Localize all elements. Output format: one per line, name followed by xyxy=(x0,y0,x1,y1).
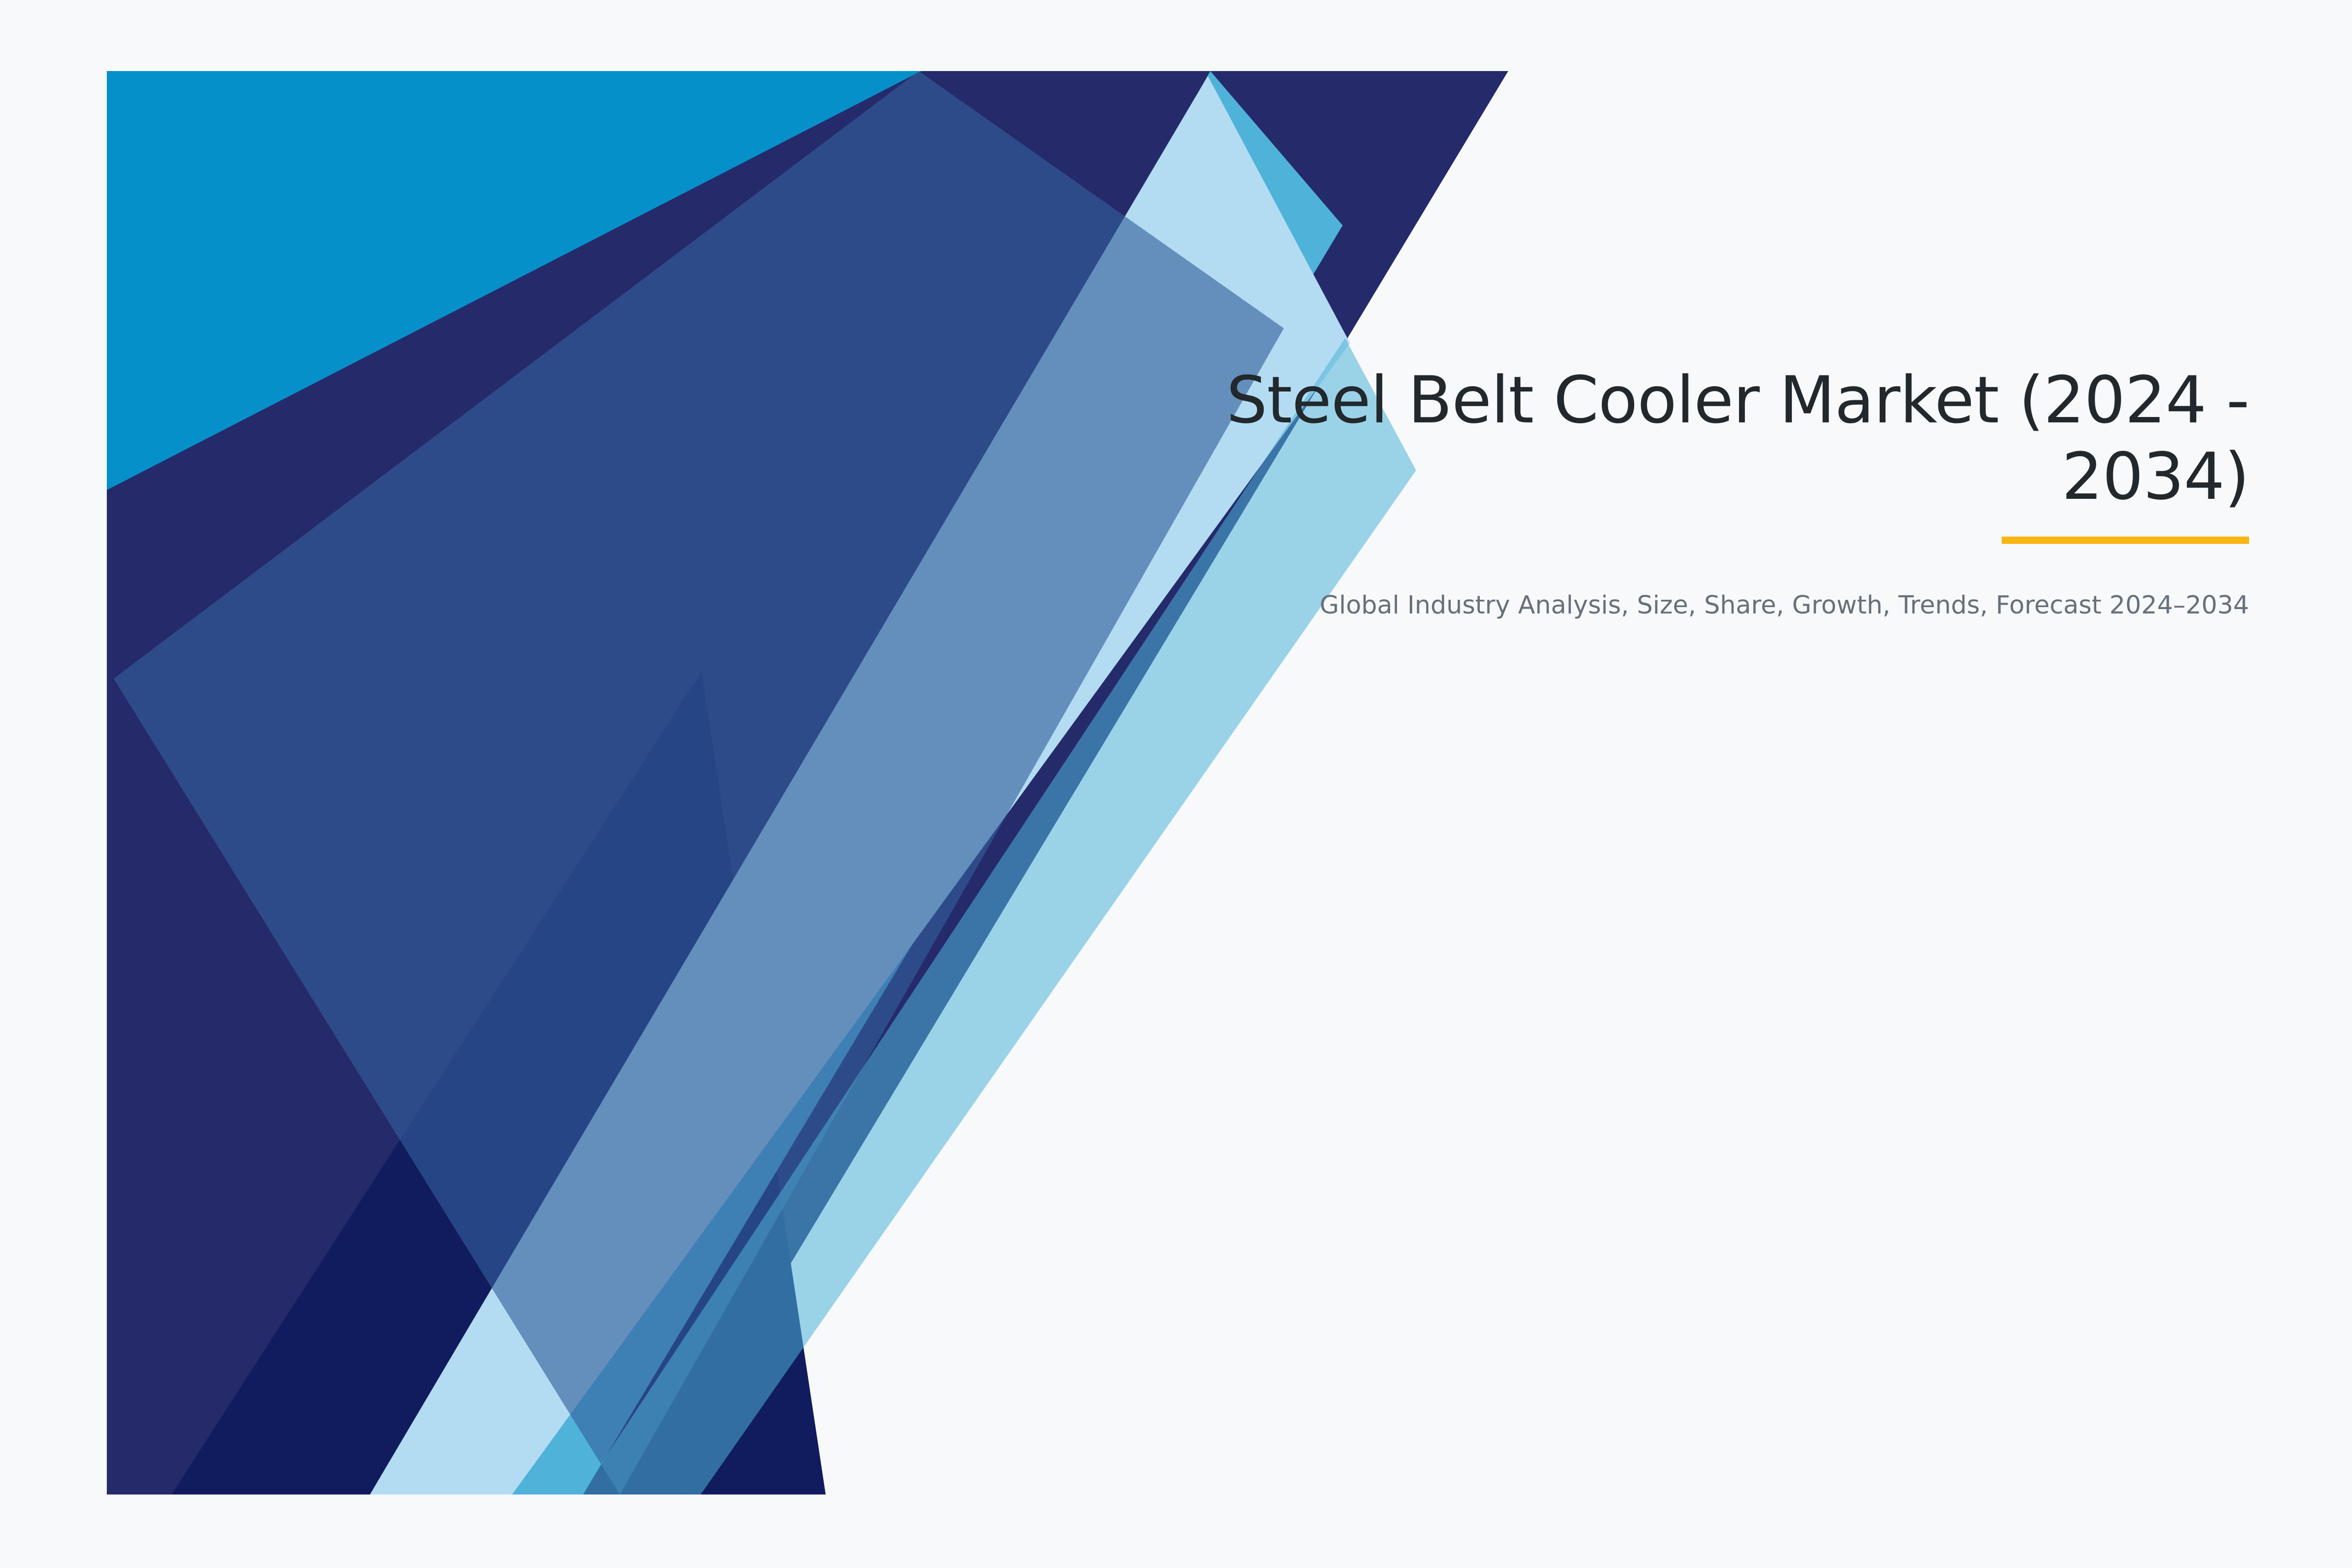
page-title: Steel Belt Cooler Market (2024 - 2034) xyxy=(1029,363,2249,515)
title-text-block: Steel Belt Cooler Market (2024 - 2034) G… xyxy=(1029,363,2249,622)
artwork-svg xyxy=(0,0,2352,1568)
decorative-artwork xyxy=(0,0,2352,1568)
title-accent-underline xyxy=(2002,537,2249,544)
shape-navy-dark-spike xyxy=(171,671,826,1494)
shape-navy-diagonal xyxy=(107,71,1508,1494)
shape-sky-blue-band xyxy=(412,71,1343,1494)
shape-cyan-base xyxy=(107,71,1508,1494)
title-wrapper: Steel Belt Cooler Market (2024 - 2034) xyxy=(1029,363,2249,515)
shape-pale-blue-overlay xyxy=(370,76,1350,1494)
page-subtitle: Global Industry Analysis, Size, Share, G… xyxy=(1029,515,2249,622)
shape-slate-blue-sheet xyxy=(114,71,1284,1494)
title-slide: Steel Belt Cooler Market (2024 - 2034) G… xyxy=(0,0,2352,1568)
